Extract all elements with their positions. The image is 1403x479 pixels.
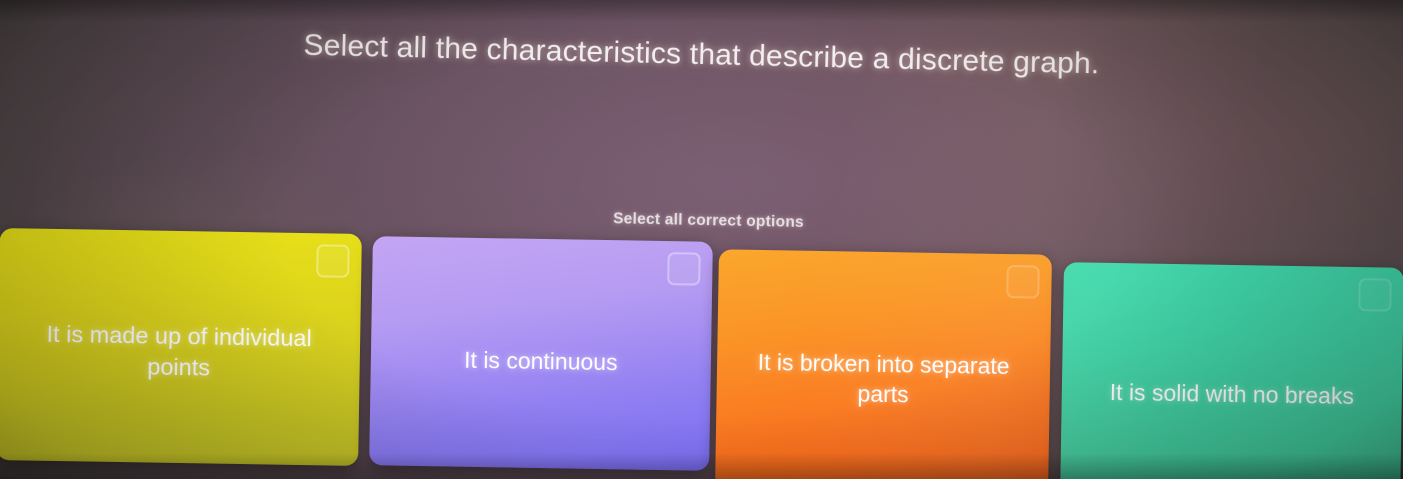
- option-label-4: It is solid with no breaks: [1110, 377, 1355, 411]
- option-card-4[interactable]: It is solid with no breaks: [1060, 262, 1403, 479]
- option-label-1: It is made up of individual points: [19, 318, 338, 385]
- option-label-3: It is broken into separate parts: [738, 346, 1028, 412]
- checkbox-icon-option-2[interactable]: [667, 252, 701, 286]
- option-card-2[interactable]: It is continuous: [369, 236, 713, 471]
- option-label-2: It is continuous: [464, 345, 618, 378]
- quiz-screen: Select all the characteristics that desc…: [0, 0, 1403, 479]
- option-card-1[interactable]: It is made up of individual points: [0, 228, 362, 466]
- checkbox-icon-option-4[interactable]: [1358, 278, 1392, 312]
- checkbox-icon-option-3[interactable]: [1006, 265, 1040, 299]
- option-card-3[interactable]: It is broken into separate parts: [715, 249, 1052, 479]
- checkbox-icon-option-1[interactable]: [316, 244, 350, 278]
- options-grid: It is made up of individual points It is…: [0, 0, 1403, 479]
